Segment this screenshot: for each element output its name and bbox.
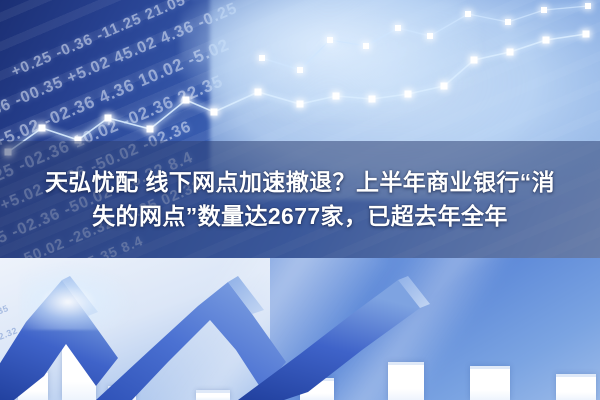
chart-node (507, 49, 514, 56)
headline-line-1: 天弘忧配 线下网点加速撤退？上半年商业银行“消 (45, 168, 555, 197)
chart-node (427, 33, 433, 39)
chart-node (255, 89, 262, 96)
chart-node (259, 55, 265, 61)
chart-node (369, 96, 376, 103)
headline-line-2: 失的网点”数量达2677家，已超去年全年 (92, 202, 508, 231)
chart-node (363, 43, 369, 49)
chart-node (297, 67, 303, 73)
chart-node (405, 91, 412, 98)
glow-sparkle (20, 260, 140, 330)
chart-node (465, 11, 471, 17)
chart-node (471, 57, 478, 64)
chart-line (262, 6, 588, 70)
lower-graphic-panel: 02.3205.3502.32 (0, 258, 600, 400)
chart-node (327, 37, 333, 43)
chart-node (105, 115, 112, 122)
headline-block: 天弘忧配 线下网点加速撤退？上半年商业银行“消 失的网点”数量达2677家，已超… (0, 141, 600, 258)
chart-node (543, 37, 550, 44)
chart-node (333, 93, 340, 100)
chart-node (583, 31, 590, 38)
chart-node (297, 101, 304, 108)
chart-node (211, 109, 218, 116)
chart-node (395, 25, 401, 31)
chart-node (505, 19, 511, 25)
chart-node (585, 3, 591, 9)
chart-line (8, 34, 586, 152)
news-banner: +0.25 -0.36 -11.25 21.05 45.02 -1.18-0.3… (0, 0, 600, 400)
chart-node (147, 126, 154, 133)
chart-node (541, 7, 547, 13)
chart-node (441, 83, 448, 90)
chart-node (39, 125, 46, 132)
chart-node (183, 97, 190, 104)
